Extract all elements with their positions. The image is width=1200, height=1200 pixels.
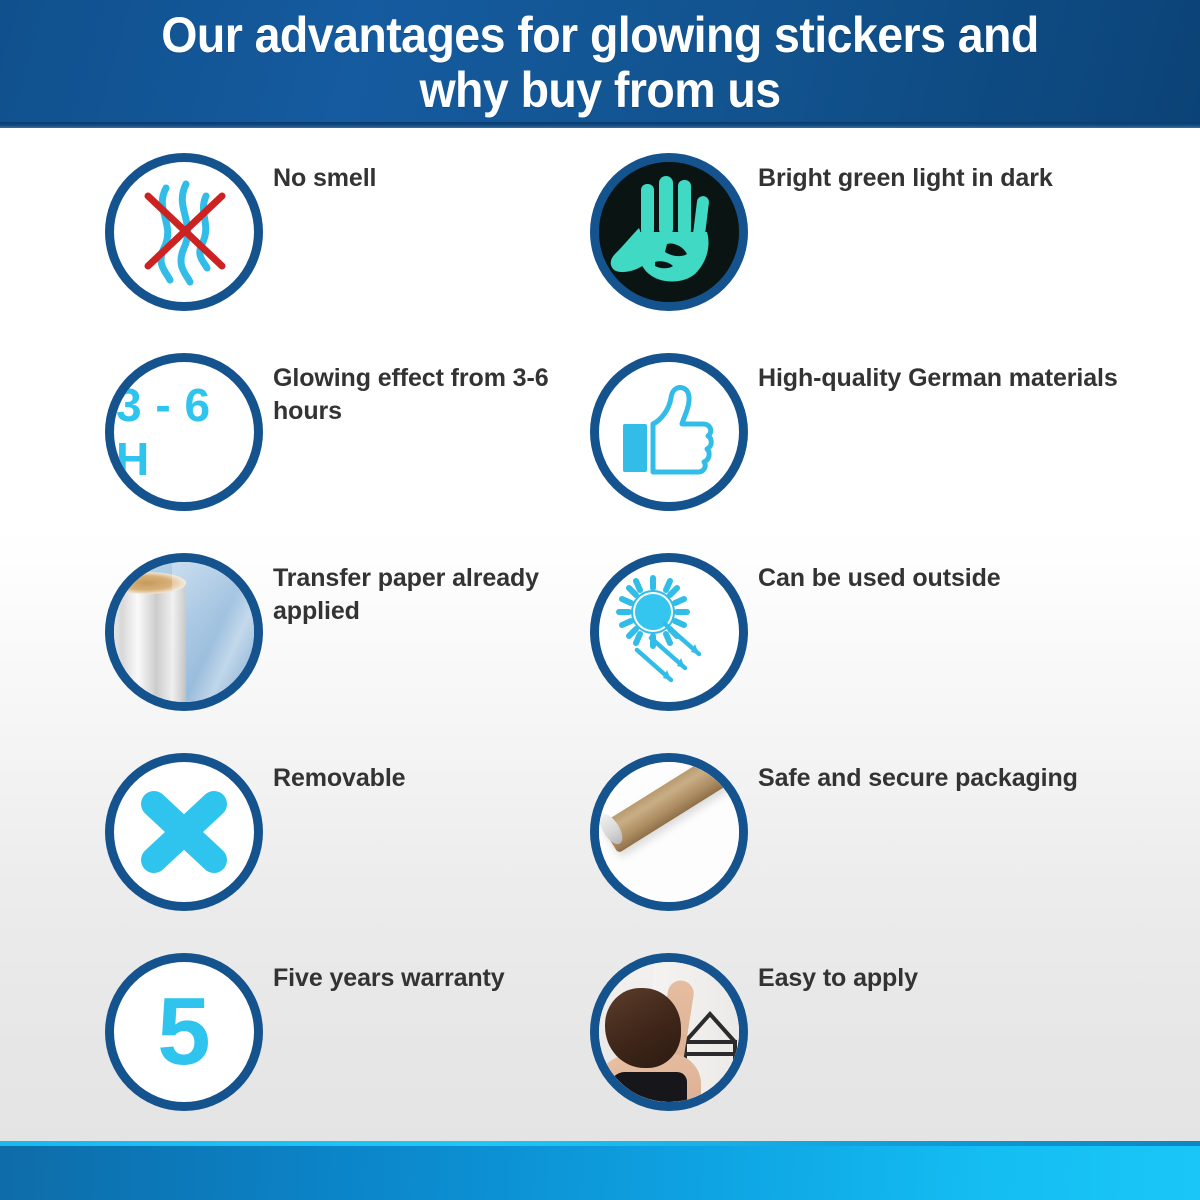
advantages-infographic: Our advantages for glowing stickers and … — [0, 0, 1200, 1200]
duration-text: 3 - 6 H — [116, 362, 256, 502]
packaging-badge — [590, 753, 748, 911]
header-banner: Our advantages for glowing stickers and … — [0, 0, 1200, 122]
transfer-film-roll-icon — [114, 562, 254, 702]
no-smell-badge — [105, 153, 263, 311]
feature-item-removable: Removable — [105, 750, 585, 950]
warranty-years-text: 5 — [114, 962, 254, 1102]
feature-item-outdoor-use: Can be used outside — [590, 550, 1110, 750]
feature-item-warranty: 5 Five years warranty — [105, 950, 585, 1150]
removable-badge — [105, 753, 263, 911]
easy-apply-badge — [590, 953, 748, 1111]
feature-label: High-quality German materials — [758, 362, 1138, 395]
feature-row: Removable Safe and secure packaging — [0, 750, 1200, 950]
feature-label: Bright green light in dark — [758, 162, 1138, 195]
outdoor-badge — [590, 553, 748, 711]
no-smell-icon — [114, 162, 254, 302]
feature-item-glow-duration: 3 - 6 H Glowing effect from 3-6 hours — [105, 350, 585, 550]
feature-item-easy-apply: Easy to apply — [590, 950, 1110, 1150]
feature-label: Can be used outside — [758, 562, 1138, 595]
feature-label: Easy to apply — [758, 962, 1138, 995]
feature-item-glow-in-dark: Bright green light in dark — [590, 150, 1110, 350]
feature-row: 5 Five years warranty — [0, 950, 1200, 1150]
feature-label: Glowing effect from 3-6 hours — [273, 362, 603, 428]
transfer-film-badge — [105, 553, 263, 711]
header-divider — [0, 122, 1200, 128]
thumbs-up-badge — [590, 353, 748, 511]
feature-row: No smell — [0, 150, 1200, 350]
number-five-icon: 5 — [114, 962, 254, 1102]
feature-item-transfer-paper: Transfer paper already applied — [105, 550, 585, 750]
feature-item-no-smell: No smell — [105, 150, 585, 350]
sun-with-rays-icon — [599, 562, 739, 702]
glowing-handprint-badge — [590, 153, 748, 311]
warranty-badge: 5 — [105, 953, 263, 1111]
feature-item-german-materials: High-quality German materials — [590, 350, 1110, 550]
feature-label: No smell — [273, 162, 603, 195]
feature-label: Transfer paper already applied — [273, 562, 603, 628]
duration-3-6-hours-icon: 3 - 6 H — [114, 362, 254, 502]
feature-label: Five years warranty — [273, 962, 603, 995]
person-top — [609, 1072, 687, 1111]
page-title: Our advantages for glowing stickers and … — [42, 8, 1158, 118]
film-sheet — [172, 562, 263, 711]
feature-label: Removable — [273, 762, 603, 795]
thumbs-up-icon — [599, 362, 739, 502]
feature-grid: No smell — [0, 150, 1200, 1150]
person-applying-decal-icon — [599, 962, 739, 1102]
footer-banner — [0, 1146, 1200, 1200]
feature-row: Transfer paper already applied — [0, 550, 1200, 750]
person-hair — [605, 988, 681, 1068]
cross-x-icon — [114, 762, 254, 902]
shipping-tube-icon — [599, 762, 739, 902]
glowing-handprint-icon — [599, 162, 739, 302]
feature-item-packaging: Safe and secure packaging — [590, 750, 1110, 950]
duration-badge: 3 - 6 H — [105, 353, 263, 511]
feature-label: Safe and secure packaging — [758, 762, 1138, 795]
feature-row: 3 - 6 H Glowing effect from 3-6 hours Hi… — [0, 350, 1200, 550]
